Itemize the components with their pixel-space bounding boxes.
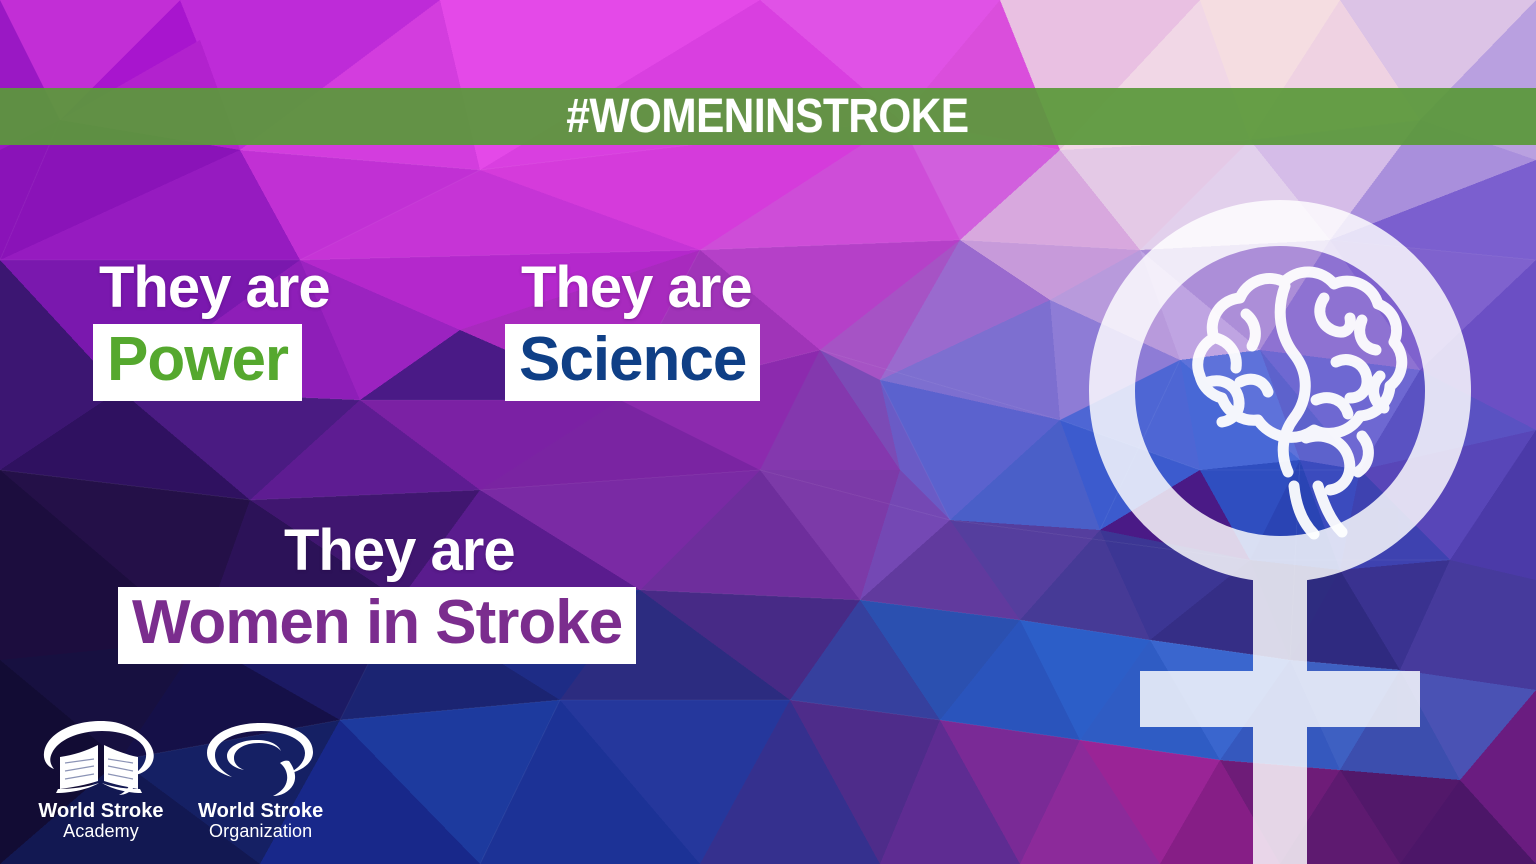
slogan-science: They are Science — [505, 258, 760, 401]
logo-world-stroke-academy[interactable]: World Stroke Academy — [38, 719, 164, 842]
slogan-wis-highlight: Women in Stroke — [118, 587, 636, 663]
logo-academy-sub: Academy — [63, 822, 139, 842]
slogan-power-lead: They are — [93, 258, 330, 317]
slogan-power-highlight: Power — [93, 324, 302, 400]
slogan-wis-lead: They are — [118, 521, 636, 580]
logo-world-stroke-organization[interactable]: World Stroke Organization — [198, 719, 323, 842]
hashtag-text: #WOMENINSTROKE — [567, 93, 969, 141]
slogan-power: They are Power — [93, 258, 330, 401]
brain-swirl-icon — [203, 719, 319, 797]
logo-organization-sub: Organization — [209, 822, 312, 842]
slogan-science-lead: They are — [505, 258, 760, 317]
logo-academy-name: World Stroke — [38, 800, 163, 822]
logo-row: World Stroke Academy World Stroke Organi… — [38, 719, 323, 842]
poster-canvas: #WOMENINSTROKE — [0, 0, 1536, 864]
book-brain-icon — [38, 719, 164, 797]
logo-organization-name: World Stroke — [198, 800, 323, 822]
slogan-science-highlight: Science — [505, 324, 760, 400]
hashtag-banner: #WOMENINSTROKE — [0, 88, 1536, 145]
slogan-women-in-stroke: They are Women in Stroke — [118, 521, 636, 664]
